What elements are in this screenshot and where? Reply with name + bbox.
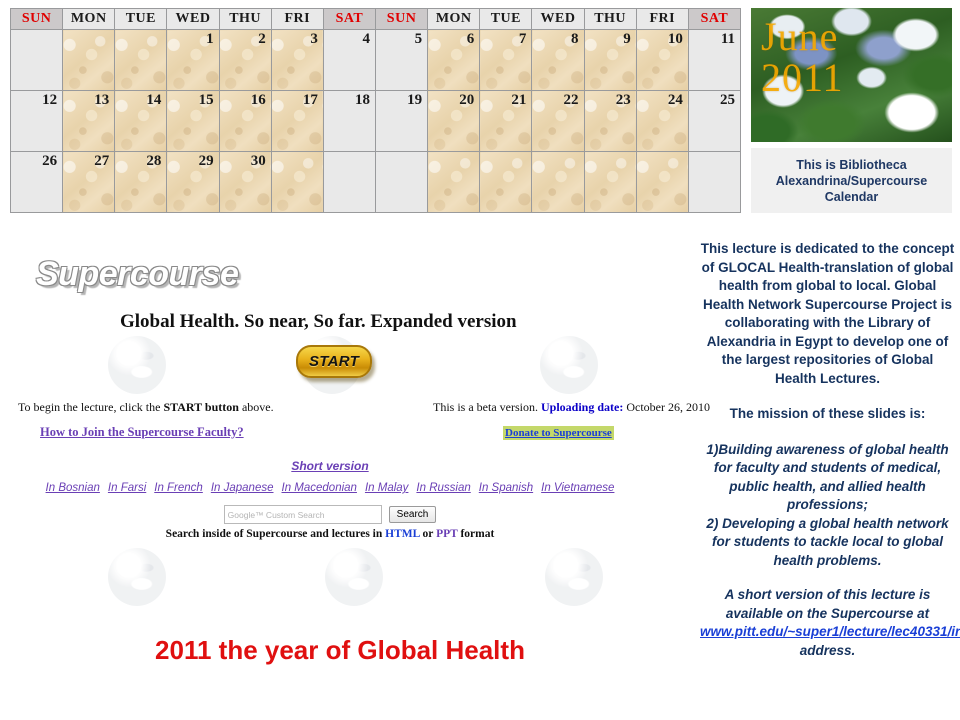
calendar-day-cell[interactable]: 16 [219, 91, 271, 152]
start-button[interactable]: START [296, 345, 372, 378]
beta-notice: This is a beta version. Uploading date: … [433, 400, 710, 415]
calendar-day-cell[interactable]: 17 [271, 91, 323, 152]
language-link-0[interactable]: In Bosnian [46, 482, 100, 494]
calendar-day-cell[interactable]: 26 [11, 152, 63, 213]
join-faculty-link[interactable]: How to Join the Supercourse Faculty? [40, 425, 244, 440]
right-text-panel: This lecture is dedicated to the concept… [700, 240, 955, 676]
calendar-day-cell[interactable] [480, 152, 532, 213]
year-banner: 2011 the year of Global Health [0, 635, 680, 666]
lecture-tagline: Global Health. So near, So far. Expanded… [120, 311, 640, 333]
calendar-day-cell[interactable] [115, 30, 167, 91]
calendar-day-cell[interactable]: 14 [115, 91, 167, 152]
calendar-day-cell[interactable]: 8 [532, 30, 584, 91]
calendar-header-0: SUN [11, 9, 63, 30]
calendar-day-cell[interactable]: 4 [323, 30, 375, 91]
calendar-day-cell[interactable]: 29 [167, 152, 219, 213]
globe-watermark-4 [108, 548, 166, 606]
short-version-link[interactable]: Short version [0, 459, 660, 473]
calendar-header-5: FRI [271, 9, 323, 30]
calendar-header-2: TUE [115, 9, 167, 30]
language-link-5[interactable]: In Malay [365, 482, 408, 494]
mission-item-2: 2) Developing a global health network fo… [706, 516, 948, 568]
supercourse-url-link[interactable]: www.pitt.edu/~super1/lecture/lec40331/in… [700, 624, 960, 639]
calendar-day-cell[interactable]: 3 [271, 30, 323, 91]
calendar-day-cell[interactable]: 7 [480, 30, 532, 91]
search-input[interactable] [224, 505, 382, 524]
calendar-day-cell[interactable]: 11 [688, 30, 740, 91]
calendar-day-cell[interactable]: 2 [219, 30, 271, 91]
calendar-day-cell[interactable] [323, 152, 375, 213]
calendar-day-cell[interactable]: 12 [11, 91, 63, 152]
short-version-note-prefix: A short version of this lecture is avail… [725, 587, 931, 621]
calendar-day-cell[interactable] [532, 152, 584, 213]
month-label: June [761, 16, 844, 57]
search-note-suffix: format [458, 528, 495, 540]
calendar-day-cell[interactable]: 22 [532, 91, 584, 152]
calendar-day-cell[interactable]: 28 [115, 152, 167, 213]
begin-instruction-suffix: above. [239, 400, 274, 414]
search-note-html-link[interactable]: HTML [385, 528, 420, 540]
calendar-table: SUNMONTUEWEDTHUFRISATSUNMONTUEWEDTHUFRIS… [10, 8, 741, 213]
calendar-day-cell[interactable]: 13 [63, 91, 115, 152]
globe-watermark-5 [325, 548, 383, 606]
calendar-day-cell[interactable] [63, 30, 115, 91]
mission-item-1: 1)Building awareness of global health fo… [706, 442, 948, 513]
begin-instruction: To begin the lecture, click the START bu… [18, 400, 274, 415]
right-panel-paragraph-1: This lecture is dedicated to the concept… [700, 240, 955, 388]
calendar-week-row: 1234567891011 [11, 30, 741, 91]
calendar-caption: This is Bibliotheca Alexandrina/Supercou… [751, 148, 952, 213]
calendar-day-cell[interactable] [375, 152, 427, 213]
search-note-mid: or [420, 528, 436, 540]
right-panel-paragraph-2: The mission of these slides is: [700, 405, 955, 424]
globe-watermark-3 [540, 336, 598, 394]
calendar-day-cell[interactable]: 27 [63, 152, 115, 213]
calendar-header-8: MON [428, 9, 480, 30]
language-link-8[interactable]: In Vietnamese [541, 482, 614, 494]
year-label: 2011 [761, 57, 844, 98]
calendar-body: 1234567891011121314151617181920212223242… [11, 30, 741, 213]
supercourse-logo: Supercourse [36, 255, 238, 294]
calendar-caption-text: This is Bibliotheca Alexandrina/Supercou… [751, 157, 952, 205]
begin-instruction-bold: START button [163, 400, 239, 414]
search-row: Search [0, 505, 660, 524]
language-link-2[interactable]: In French [154, 482, 203, 494]
calendar-header-13: SAT [688, 9, 740, 30]
calendar-day-cell[interactable] [428, 152, 480, 213]
donate-link[interactable]: Donate to Supercourse [503, 426, 614, 440]
calendar-header-3: WED [167, 9, 219, 30]
calendar-day-cell[interactable]: 18 [323, 91, 375, 152]
short-version-note-suffix: address. [800, 643, 856, 658]
calendar-header-4: THU [219, 9, 271, 30]
beta-text: This is a beta version. [433, 400, 541, 414]
begin-instruction-prefix: To begin the lecture, click the [18, 400, 163, 414]
language-link-4[interactable]: In Macedonian [282, 482, 357, 494]
calendar-header-7: SUN [375, 9, 427, 30]
right-panel-paragraph-5: A short version of this lecture is avail… [700, 586, 955, 660]
calendar-day-cell[interactable] [584, 152, 636, 213]
calendar-day-cell[interactable]: 25 [688, 91, 740, 152]
language-links: In BosnianIn FarsiIn FrenchIn JapaneseIn… [0, 482, 660, 494]
calendar-day-cell[interactable]: 1 [167, 30, 219, 91]
calendar-day-cell[interactable]: 6 [428, 30, 480, 91]
calendar-day-cell[interactable]: 30 [219, 152, 271, 213]
month-year-overlay: June 2011 [761, 16, 844, 98]
search-note: Search inside of Supercourse and lecture… [0, 528, 660, 540]
calendar-widget: SUNMONTUEWEDTHUFRISATSUNMONTUEWEDTHUFRIS… [10, 8, 741, 213]
uploading-date-value: October 26, 2010 [623, 400, 710, 414]
calendar-header-1: MON [63, 9, 115, 30]
language-link-3[interactable]: In Japanese [211, 482, 274, 494]
search-button[interactable]: Search [389, 506, 437, 523]
calendar-day-cell[interactable]: 21 [480, 91, 532, 152]
calendar-header-row: SUNMONTUEWEDTHUFRISATSUNMONTUEWEDTHUFRIS… [11, 9, 741, 30]
calendar-day-cell[interactable]: 10 [636, 30, 688, 91]
language-link-7[interactable]: In Spanish [479, 482, 533, 494]
search-note-ppt-link[interactable]: PPT [436, 528, 458, 540]
calendar-day-cell[interactable]: 5 [375, 30, 427, 91]
language-link-1[interactable]: In Farsi [108, 482, 146, 494]
calendar-header-11: THU [584, 9, 636, 30]
calendar-day-cell[interactable]: 24 [636, 91, 688, 152]
calendar-day-cell[interactable]: 9 [584, 30, 636, 91]
calendar-day-cell[interactable]: 15 [167, 91, 219, 152]
uploading-date-label: Uploading date: [541, 400, 623, 414]
page-root: SUNMONTUEWEDTHUFRISATSUNMONTUEWEDTHUFRIS… [0, 0, 960, 720]
calendar-week-row: 2627282930 [11, 152, 741, 213]
calendar-day-cell[interactable]: 23 [584, 91, 636, 152]
language-link-6[interactable]: In Russian [416, 482, 470, 494]
calendar-day-cell[interactable] [271, 152, 323, 213]
globe-watermark-6 [545, 548, 603, 606]
calendar-header-6: SAT [323, 9, 375, 30]
calendar-day-cell[interactable] [11, 30, 63, 91]
calendar-header-9: TUE [480, 9, 532, 30]
month-photo: June 2011 [751, 8, 952, 142]
calendar-header-10: WED [532, 9, 584, 30]
calendar-header-12: FRI [636, 9, 688, 30]
calendar-day-cell[interactable] [636, 152, 688, 213]
globe-watermark-1 [108, 336, 166, 394]
calendar-day-cell[interactable] [688, 152, 740, 213]
search-note-prefix: Search inside of Supercourse and lecture… [166, 528, 385, 540]
calendar-day-cell[interactable]: 20 [428, 91, 480, 152]
calendar-day-cell[interactable]: 19 [375, 91, 427, 152]
right-panel-paragraph-3: 1)Building awareness of global health fo… [700, 441, 955, 571]
calendar-week-row: 1213141516171819202122232425 [11, 91, 741, 152]
